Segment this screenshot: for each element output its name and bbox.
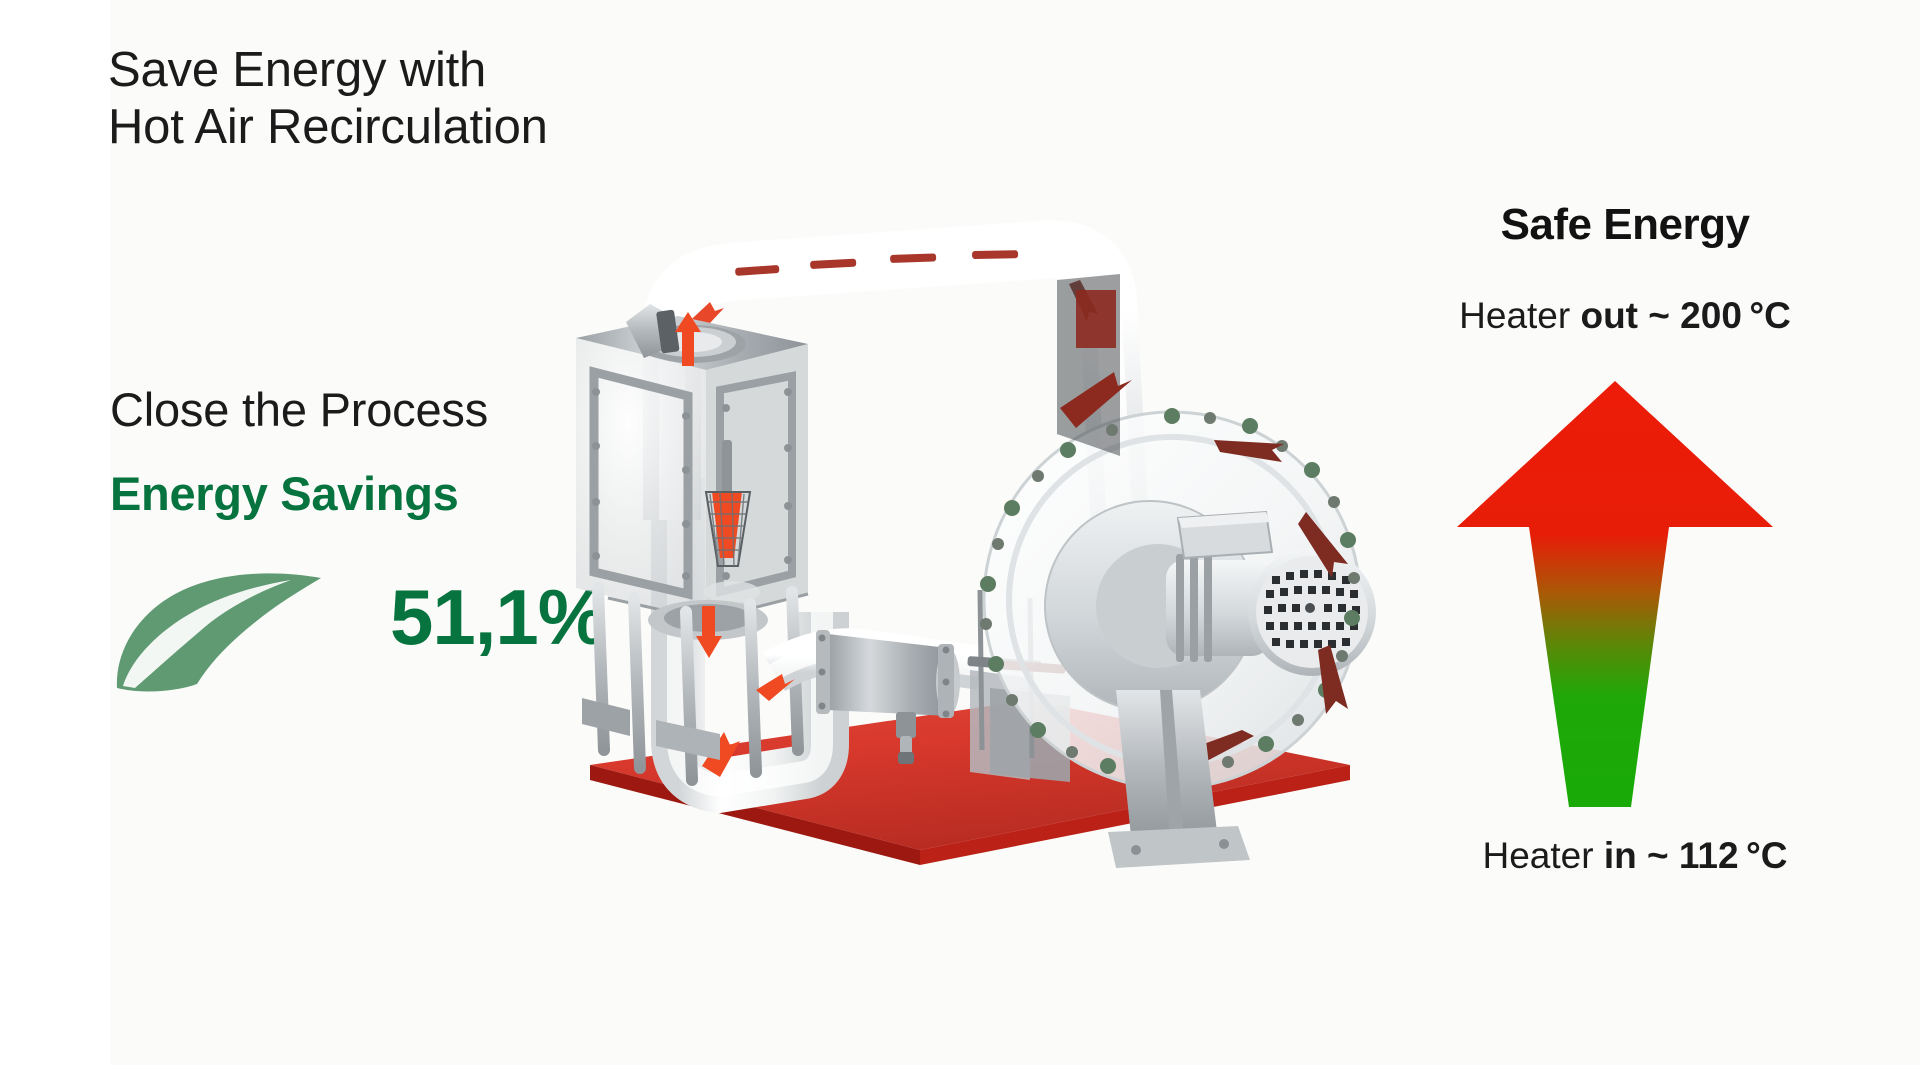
hot-air-recirculation-machine-render [560, 220, 1460, 940]
slide-canvas: Save Energy with Hot Air Recirculation C… [0, 0, 1920, 1080]
heater-in-readout: Heater in ~ 112 °C [1395, 835, 1875, 877]
heater-out-readout: Heater out ~ 200 °C [1385, 295, 1865, 337]
energy-savings-label: Energy Savings [110, 466, 458, 521]
heater-in-value: in ~ 112 °C [1604, 835, 1788, 876]
process-chamber [576, 304, 808, 780]
heater-in-prefix: Heater [1482, 835, 1603, 876]
energy-savings-row: 51,1% [100, 560, 580, 700]
safe-energy-title: Safe Energy [1415, 200, 1835, 250]
heater-out-value: out ~ 200 °C [1580, 295, 1790, 336]
page-title: Save Energy with Hot Air Recirculation [108, 42, 748, 156]
heater-out-prefix: Heater [1459, 295, 1580, 336]
up-arrow-gradient-icon [1455, 375, 1775, 815]
subheading-close-the-process: Close the Process [110, 382, 488, 437]
leaf-icon [105, 566, 335, 696]
